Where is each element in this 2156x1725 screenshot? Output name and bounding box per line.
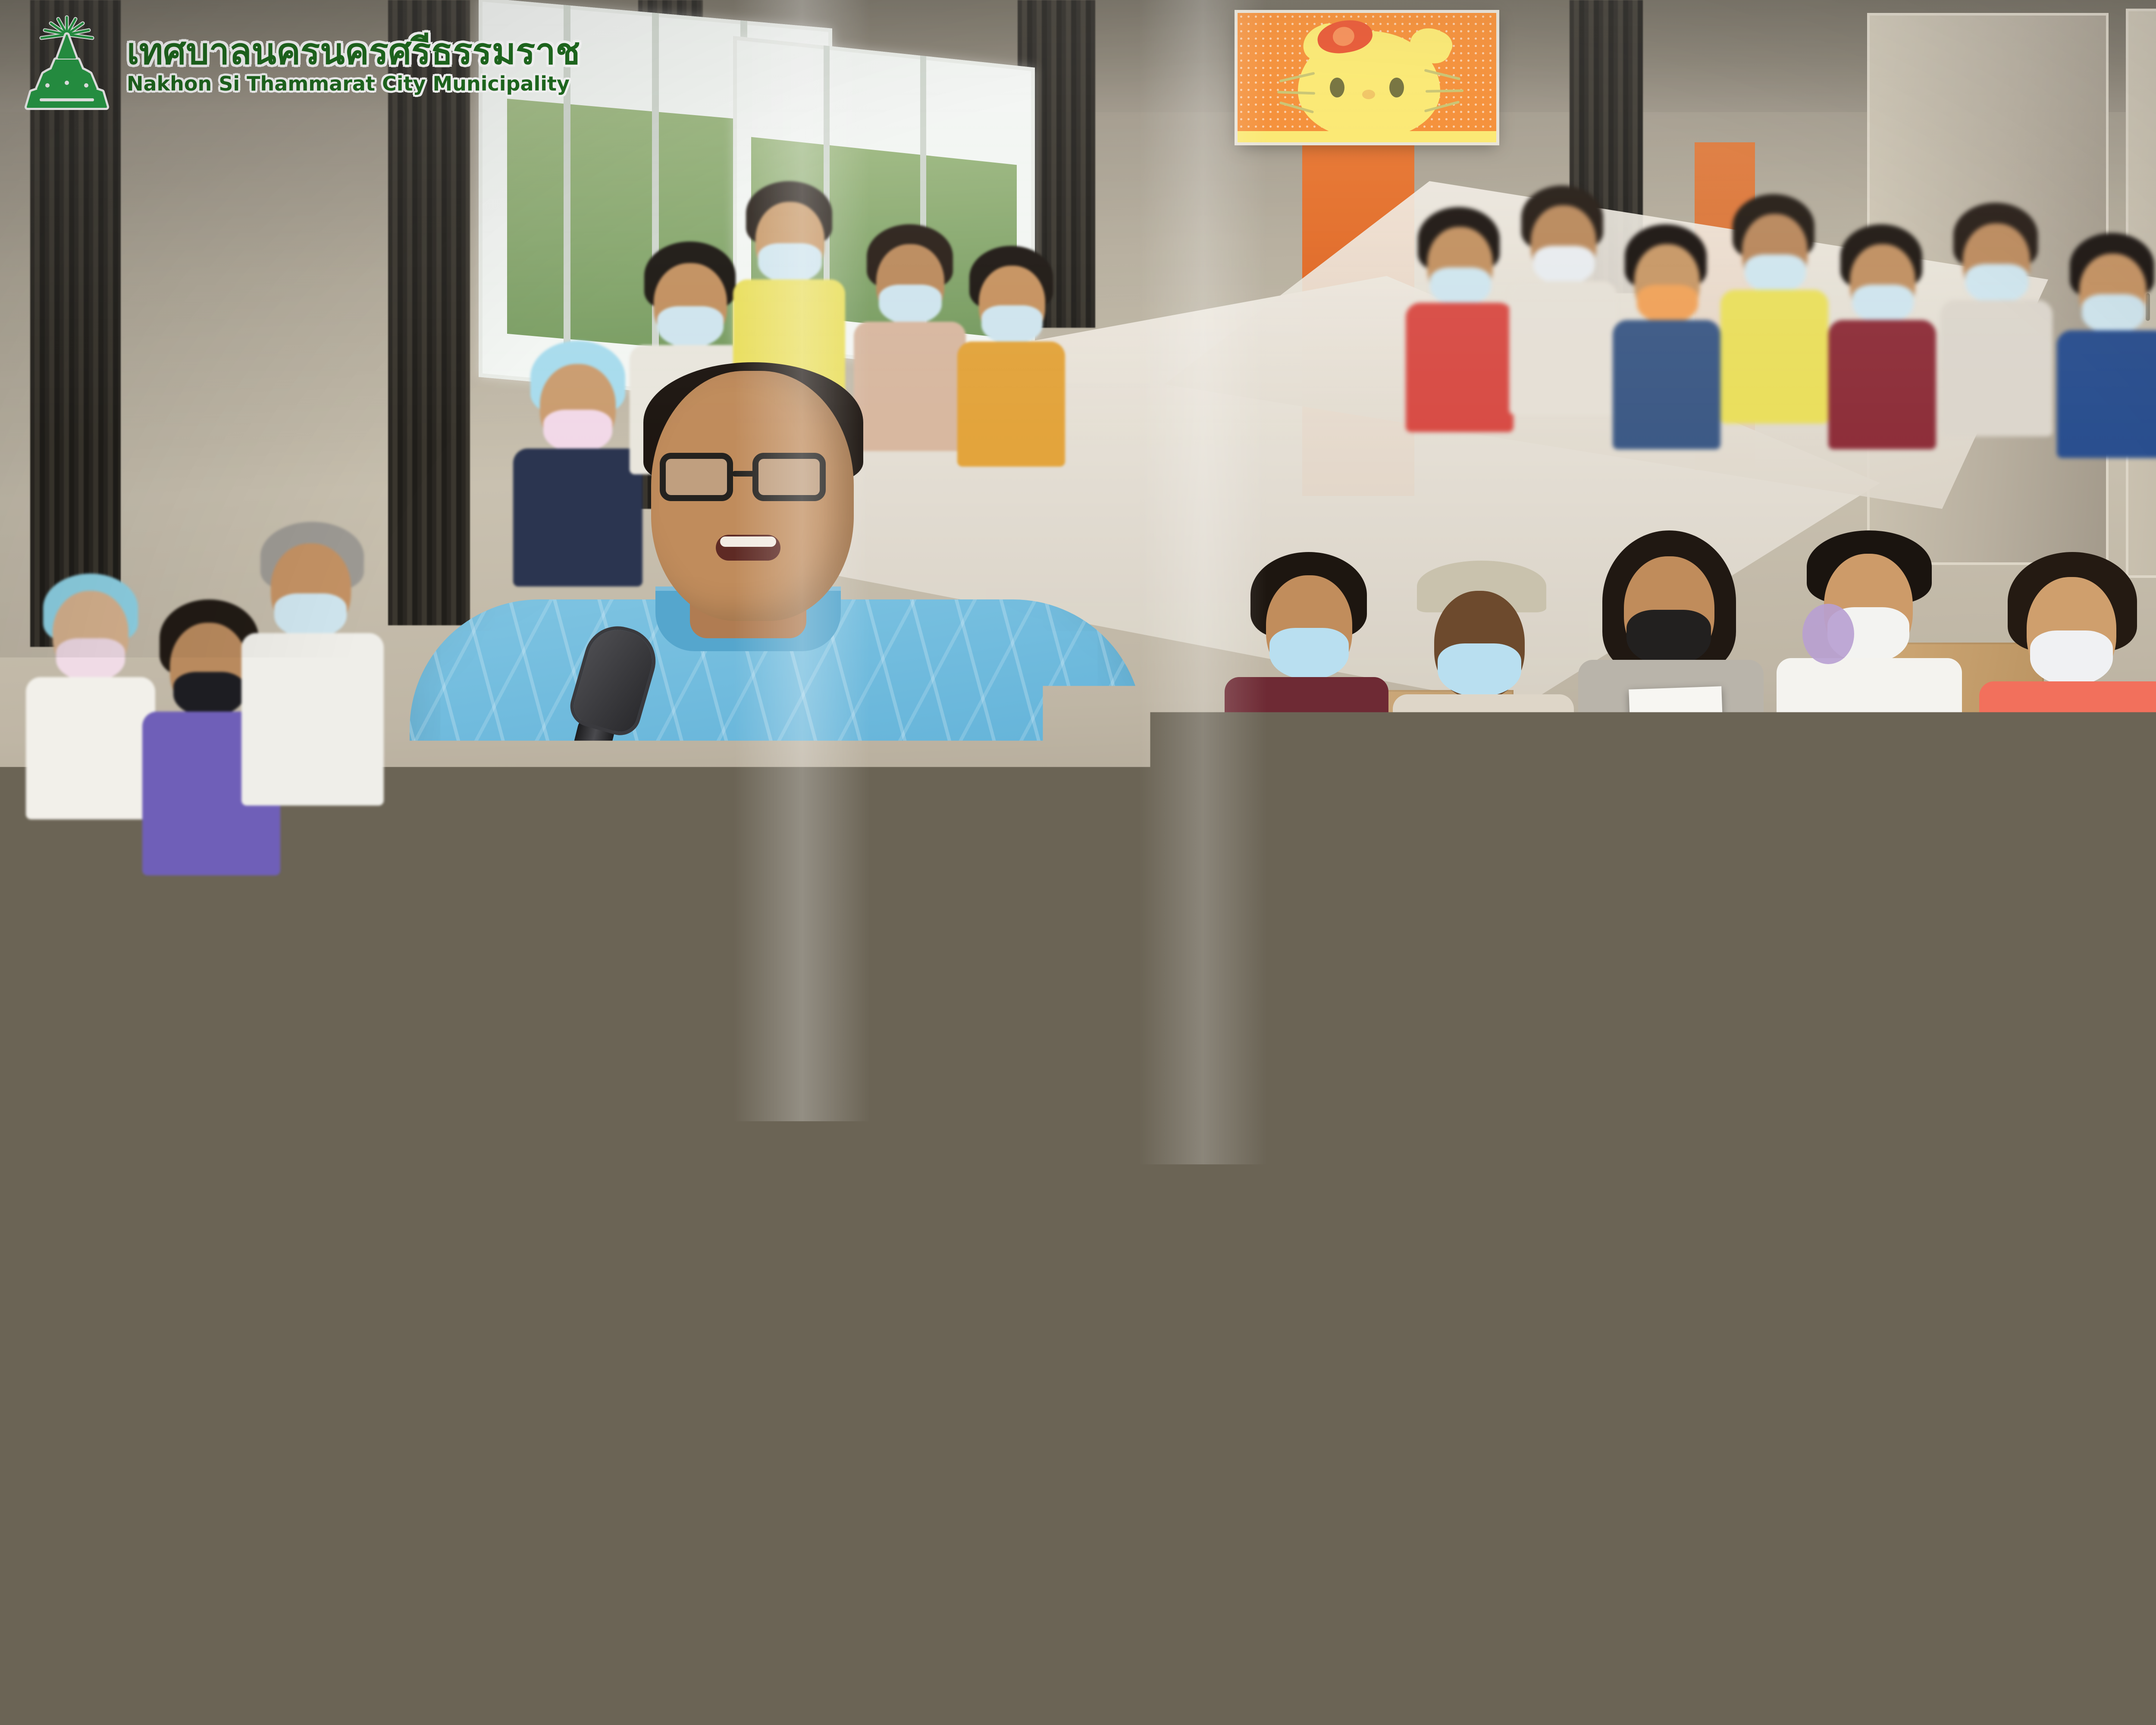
news-photo-card: วัดหัวอิฐ ดร.กณพ เกตุชาติ นายกเทศมนตรีนค…	[0, 0, 2156, 1725]
photo-vignette	[0, 0, 2156, 1725]
